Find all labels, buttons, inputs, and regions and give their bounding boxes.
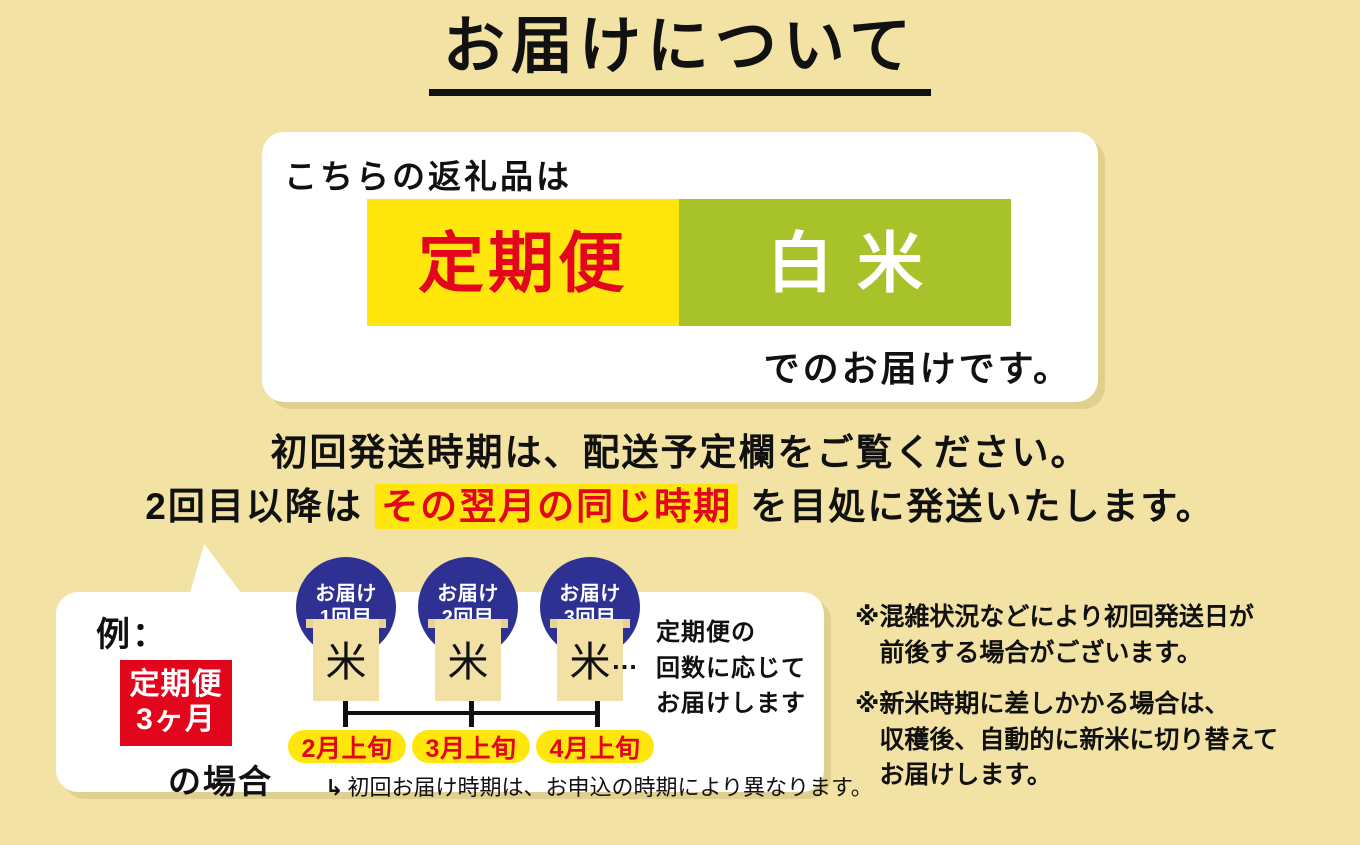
note-2-line-2: 収穫後、自動的に新米に切り替えて	[879, 723, 1278, 759]
rice-bag-char-2: 米	[448, 642, 489, 683]
delivery-circle-3-line-1: お届け	[559, 583, 621, 607]
card-trailing-text: でのお届けです。	[764, 340, 1072, 392]
rice-bag-icon-1: 米	[313, 619, 379, 701]
card-lead-text: こちらの返礼品は	[284, 150, 572, 198]
timeline-tick-1	[343, 699, 348, 727]
delivery-circle-2-line-1: お届け	[437, 583, 499, 607]
repeat-note: 定期便の 回数に応じて お届けします	[656, 615, 806, 722]
page-title: お届けについて	[0, 14, 1360, 96]
product-type-card: こちらの返礼品は 定期便 白米 でのお届けです。	[262, 132, 1098, 402]
arrow-icon: ↳	[325, 775, 343, 800]
note-1-line-1: 混雑状況などにより初回発送日が	[879, 600, 1254, 636]
badge-row: 定期便 白米	[367, 199, 1011, 326]
example-suffix: の場合	[168, 755, 273, 803]
month-pill-3: 4月上旬	[536, 730, 654, 763]
month-pill-1: 2月上旬	[288, 730, 406, 763]
repeat-note-line-3: お届けします	[656, 686, 806, 722]
plan-badge-line-1: 定期便	[130, 668, 223, 703]
timeline-tick-3	[595, 699, 600, 727]
note-body-1: 混雑状況などにより初回発送日が 前後する場合がございます。	[879, 600, 1254, 671]
side-note-2: ※ 新米時期に差しかかる場合は、 収穫後、自動的に新米に切り替えて お届けします…	[855, 687, 1325, 794]
ellipsis-icon: …	[611, 645, 641, 676]
page-title-text: お届けについて	[429, 14, 931, 96]
first-delivery-footnote-text: 初回お届け時期は、お申込の時期により異なります。	[347, 775, 872, 800]
repeat-note-line-1: 定期便の	[656, 615, 806, 651]
timeline-tick-2	[469, 699, 474, 727]
rice-bag-icon-2: 米	[435, 619, 501, 701]
line2-prefix: 2回目以降は	[145, 486, 363, 527]
rice-bag-char-1: 米	[326, 642, 367, 683]
shipping-summary: 初回発送時期は、配送予定欄をご覧ください。 2回目以降は その翌月の同じ時期 を…	[0, 426, 1360, 533]
side-note-1: ※ 混雑状況などにより初回発送日が 前後する場合がございます。	[855, 600, 1325, 671]
note-2-line-1: 新米時期に差しかかる場合は、	[879, 687, 1278, 723]
teikibin-badge: 定期便	[367, 199, 679, 326]
shipping-summary-line-2: 2回目以降は その翌月の同じ時期 を目処に発送いたします。	[0, 480, 1360, 534]
delivery-circle-1-line-1: お届け	[315, 583, 377, 607]
shipping-summary-line-1: 初回発送時期は、配送予定欄をご覧ください。	[0, 426, 1360, 480]
rice-bag-char-3: 米	[570, 642, 611, 683]
first-delivery-footnote: ↳初回お届け時期は、お申込の時期により異なります。	[325, 770, 873, 802]
plan-badge-line-2: 3ヶ月	[136, 703, 216, 738]
note-body-2: 新米時期に差しかかる場合は、 収穫後、自動的に新米に切り替えて お届けします。	[879, 687, 1278, 794]
poster-root: お届けについて こちらの返礼品は 定期便 白米 でのお届けです。 初回発送時期は…	[0, 0, 1360, 845]
note-mark-1: ※	[855, 600, 879, 671]
line2-highlight: その翌月の同じ時期	[375, 484, 738, 529]
side-notes: ※ 混雑状況などにより初回発送日が 前後する場合がございます。 ※ 新米時期に差…	[855, 600, 1325, 810]
line2-suffix: を目処に発送いたします。	[750, 486, 1214, 527]
month-pill-2: 3月上旬	[412, 730, 530, 763]
plan-badge: 定期便 3ヶ月	[120, 660, 232, 746]
example-label: 例：	[96, 607, 168, 656]
note-2-line-3: お届けします。	[879, 758, 1278, 794]
repeat-note-line-2: 回数に応じて	[656, 651, 806, 687]
note-1-line-2: 前後する場合がございます。	[879, 636, 1254, 672]
hakumai-badge: 白米	[679, 199, 1011, 326]
